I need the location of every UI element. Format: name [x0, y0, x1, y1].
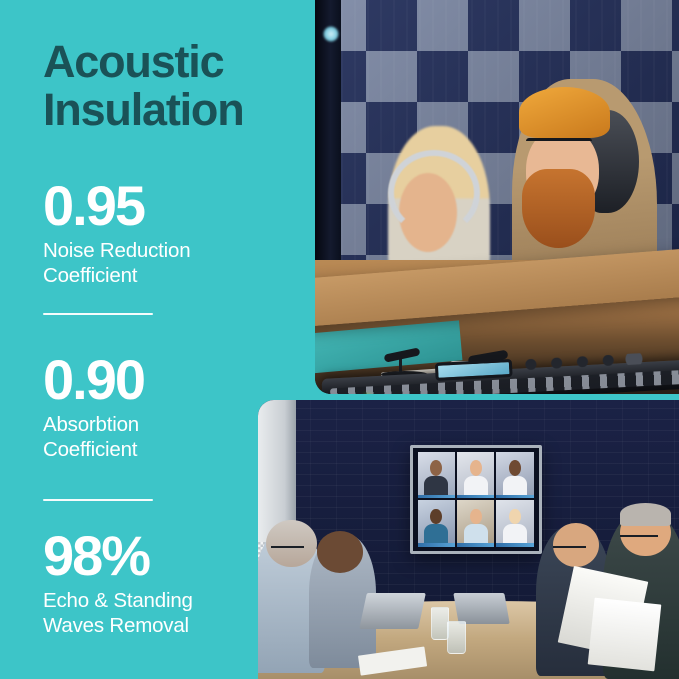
- video-tile: [496, 452, 533, 498]
- console-knobs: [518, 353, 647, 370]
- glasses-icon: [620, 535, 658, 537]
- tile-name-bar: [457, 543, 494, 547]
- photo-podcast-studio: [315, 0, 679, 394]
- video-tile: [418, 452, 455, 498]
- video-tile: [418, 500, 455, 546]
- participant-head: [430, 509, 442, 525]
- tile-name-bar: [418, 543, 455, 547]
- stat-label: Absorbtion Coefficient: [43, 412, 303, 462]
- participant-head: [470, 509, 482, 525]
- person-hair: [620, 503, 671, 525]
- stat-value: 98%: [43, 528, 303, 584]
- video-tile: [457, 452, 494, 498]
- participant-head: [470, 460, 482, 476]
- headphones-icon: [388, 150, 480, 237]
- stat-label: Noise Reduction Coefficient: [43, 238, 303, 288]
- divider: [43, 313, 153, 315]
- laptop: [453, 593, 509, 624]
- beard: [522, 169, 595, 248]
- tile-name-bar: [457, 495, 494, 499]
- divider: [43, 499, 153, 501]
- video-call-grid: [418, 452, 534, 547]
- console-screen: [435, 358, 514, 380]
- glasses-icon: [553, 546, 587, 548]
- video-tile: [457, 500, 494, 546]
- drinking-glass: [447, 621, 466, 654]
- studio-light: [323, 26, 339, 42]
- infographic-root: Acoustic Insulation 0.95 Noise Reduction…: [0, 0, 679, 679]
- participant-head: [430, 460, 442, 476]
- stat-block-echo-removal: 98% Echo & Standing Waves Removal: [43, 528, 303, 638]
- tile-name-bar: [418, 495, 455, 499]
- tile-name-bar: [496, 495, 533, 499]
- stat-block-noise-reduction: 0.95 Noise Reduction Coefficient: [43, 178, 303, 288]
- stat-block-absorbtion: 0.90 Absorbtion Coefficient: [43, 352, 303, 462]
- participant-head: [509, 460, 521, 476]
- stat-label: Echo & Standing Waves Removal: [43, 588, 303, 638]
- beanie-hat: [519, 87, 610, 138]
- studio-desk: [315, 260, 679, 394]
- photo-conference-room: [258, 400, 679, 679]
- video-call-screen: [410, 445, 542, 554]
- page-title: Acoustic Insulation: [43, 38, 305, 133]
- stat-value: 0.95: [43, 178, 303, 234]
- person-head: [317, 531, 363, 573]
- glasses-icon: [526, 138, 592, 161]
- participant-head: [509, 509, 521, 525]
- paper-document: [587, 598, 661, 672]
- laptop: [359, 593, 426, 629]
- tile-name-bar: [496, 543, 533, 547]
- video-tile: [496, 500, 533, 546]
- stat-value: 0.90: [43, 352, 303, 408]
- text-column: Acoustic Insulation 0.95 Noise Reduction…: [0, 0, 320, 679]
